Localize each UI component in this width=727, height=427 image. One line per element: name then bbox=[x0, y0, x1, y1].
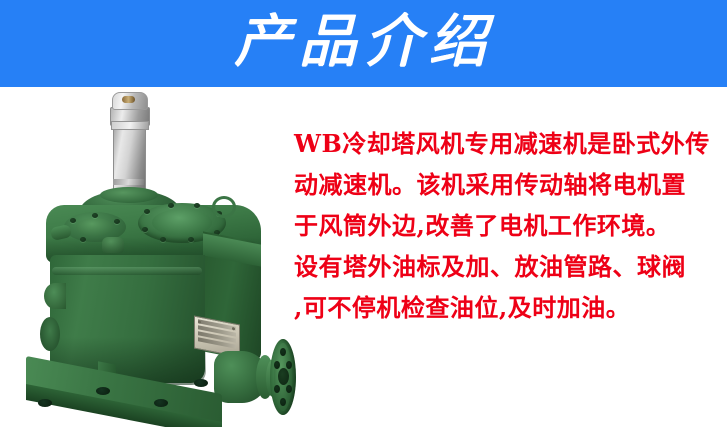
base-bolt-hole bbox=[194, 379, 208, 387]
description-line: 于风筒外边,改善了电机工作环境。 bbox=[294, 205, 706, 246]
boss-bolt bbox=[92, 213, 98, 218]
base-bolt-hole bbox=[154, 399, 168, 407]
cover-bolt bbox=[168, 203, 174, 208]
description-line: ,可不停机检查油位,及时加油。 bbox=[294, 287, 706, 328]
page-banner: 产品介绍 bbox=[0, 0, 727, 87]
cover-bolt bbox=[142, 227, 148, 232]
cover-bolt bbox=[194, 203, 200, 208]
base-bolt-hole bbox=[38, 399, 52, 407]
description-line: 动减速机。该机采用传动轴将电机置 bbox=[294, 164, 706, 205]
flange-hub bbox=[278, 368, 289, 385]
product-description: WB冷却塔风机专用减速机是卧式外传 动减速机。该机采用传动轴将电机置 于风筒外边… bbox=[294, 123, 706, 328]
flange-bolt-hole bbox=[286, 385, 292, 393]
content-area: WB冷却塔风机专用减速机是卧式外传 动减速机。该机采用传动轴将电机置 于风筒外边… bbox=[0, 87, 727, 427]
input-shaft-band bbox=[113, 179, 144, 185]
shaft-collar-lower bbox=[111, 121, 149, 130]
description-line: 设有塔外油标及加、放油管路、球阀 bbox=[294, 246, 706, 287]
left-boss-inner bbox=[76, 218, 114, 236]
cover-bolt bbox=[144, 209, 150, 214]
boss-bolt bbox=[70, 218, 76, 223]
boss-bolt bbox=[114, 219, 120, 224]
description-line: WB冷却塔风机专用减速机是卧式外传 bbox=[294, 123, 706, 164]
flange-bolt-hole bbox=[274, 385, 280, 393]
product-image bbox=[18, 87, 290, 427]
bearing-cone-top bbox=[100, 187, 158, 203]
product-intro-page: 产品介绍 bbox=[0, 0, 727, 427]
flange-bolt-hole bbox=[280, 398, 286, 406]
flange-bolt-hole bbox=[286, 361, 292, 369]
shaft-cap-detail bbox=[122, 96, 135, 103]
housing-parting-rib bbox=[52, 267, 202, 275]
side-breather bbox=[40, 317, 60, 351]
page-title: 产品介绍 bbox=[0, 0, 727, 87]
lifting-eye-icon bbox=[212, 196, 236, 218]
flange-bolt-hole bbox=[274, 361, 280, 369]
side-boss bbox=[44, 283, 66, 309]
base-bolt-hole bbox=[96, 387, 110, 395]
flange-bolt-hole bbox=[280, 348, 286, 356]
